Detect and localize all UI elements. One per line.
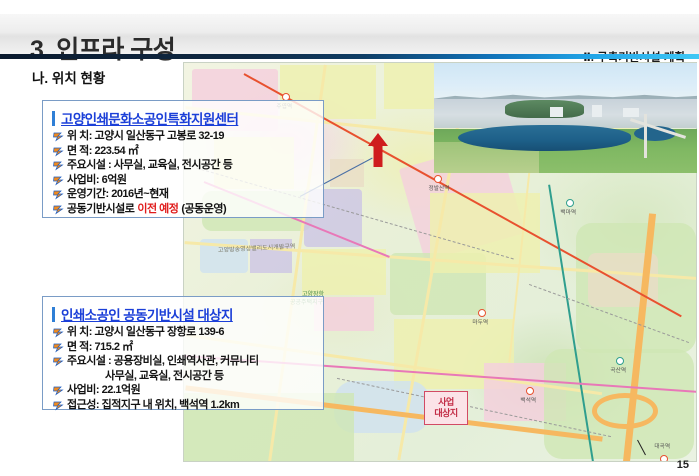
page-number: 15 (677, 459, 689, 471)
arrow-bullet-icon (53, 204, 64, 215)
map-station-label: 곡산역 (610, 365, 626, 374)
list-item: 주요시설 : 공용장비실, 인쇄역사관, 커뮤니티 (53, 355, 317, 369)
info-list: 위 치: 고양시 일산동구 장항로 139-6 면 적: 715.2 ㎡ 주요시… (53, 326, 317, 414)
aerial-building (592, 105, 603, 117)
info-box-target-site: 인쇄소공인 공동기반시설 대상지 위 치: 고양시 일산동구 장항로 139-6… (42, 296, 324, 410)
info-list: 위 치: 고양시 일산동구 고봉로 32-19 면 적: 223.54 ㎡ 주요… (53, 130, 317, 218)
map-station-marker (660, 455, 668, 462)
list-item-prefix: 공동기반시설로 (67, 203, 134, 217)
list-item-text: 위 치: 고양시 일산동구 장항로 139-6 (67, 326, 224, 340)
list-item-text: 사업비: 6억원 (67, 174, 126, 188)
aerial-photo-inset (434, 63, 697, 173)
arrow-bullet-icon (53, 175, 64, 186)
map-station-label: 마두역 (472, 317, 488, 326)
callout-line-2: 대상지 (434, 408, 457, 419)
aerial-building (623, 108, 639, 117)
map-station-label: 대곡역 (654, 441, 670, 450)
info-box-center: 고양인쇄문화소공인특화지원센터 위 치: 고양시 일산동구 고봉로 32-19 … (42, 100, 324, 218)
aerial-sky (434, 63, 697, 100)
arrow-bullet-icon (53, 146, 64, 157)
list-item-text: 면 적: 223.54 ㎡ (67, 145, 138, 159)
map-station-label: 백석역 (520, 395, 536, 404)
map-station-label: 정발산역 (429, 183, 450, 192)
arrow-bullet-icon (53, 342, 64, 353)
subtitle: 나. 위치 현황 (32, 67, 105, 87)
arrow-bullet-icon (53, 160, 64, 171)
arrow-bullet-icon (53, 131, 64, 142)
info-box-heading: 인쇄소공인 공동기반시설 대상지 (52, 304, 233, 324)
aerial-forest-hill (505, 100, 584, 118)
list-item-suffix: (공동운영) (181, 203, 226, 217)
callout-line-1: 사업 (438, 397, 454, 408)
list-item-text: 주요시설 : 공용장비실, 인쇄역사관, 커뮤니티 (67, 355, 259, 369)
location-arrow-icon (368, 133, 388, 167)
arrow-bullet-icon (53, 189, 64, 200)
list-item: 위 치: 고양시 일산동구 장항로 139-6 (53, 326, 317, 340)
aerial-lake (458, 125, 632, 151)
aerial-road (644, 114, 647, 158)
header-divider (0, 54, 699, 59)
list-item: 주요시설 : 사무실, 교육실, 전시공간 등 (53, 159, 317, 173)
arrow-bullet-icon (53, 400, 64, 411)
heading-text: 인쇄소공인 공동기반시설 대상지 (61, 304, 233, 324)
list-item: 사업비: 6억원 (53, 174, 317, 188)
list-item: 운영기간: 2016년~현재 (53, 188, 317, 202)
list-item-text: 주요시설 : 사무실, 교육실, 전시공간 등 (67, 159, 232, 173)
arrow-bullet-icon (53, 356, 64, 367)
list-item: 사업비: 22.1억원 (53, 384, 317, 398)
list-item-text: 사무실, 교육실, 전시공간 등 (105, 370, 224, 384)
map-station-marker (478, 309, 486, 317)
map-highway-ramp (592, 393, 658, 429)
list-item-text: 접근성: 집적지구 내 위치, 백석역 1.2km (67, 399, 239, 413)
project-site-callout[interactable]: 사업 대상지 (424, 391, 468, 425)
list-item: 면 적: 223.54 ㎡ (53, 145, 317, 159)
aerial-building (550, 107, 563, 117)
list-item: 위 치: 고양시 일산동구 고봉로 32-19 (53, 130, 317, 144)
info-box-heading: 고양인쇄문화소공인특화지원센터 (52, 108, 238, 128)
heading-text: 고양인쇄문화소공인특화지원센터 (61, 108, 238, 128)
page-title: 3. 인프라 구성 (30, 30, 175, 66)
map-station-marker (566, 199, 574, 207)
map-station-label: 백마역 (560, 207, 576, 216)
list-item-continuation: 사무실, 교육실, 전시공간 등 (105, 370, 317, 384)
list-item: 접근성: 집적지구 내 위치, 백석역 1.2km (53, 399, 317, 413)
list-item-text: 사업비: 22.1억원 (67, 384, 140, 398)
list-item-text: 운영기간: 2016년~현재 (67, 188, 168, 202)
map-station-marker (616, 357, 624, 365)
heading-accent-bar (52, 111, 55, 126)
slide: 3. 인프라 구성 Ⅱ. 구축기반시설 계획 나. 위치 현황 (0, 0, 699, 476)
map-station-marker (434, 175, 442, 183)
list-item-text: 면 적: 715.2 ㎡ (67, 341, 133, 355)
list-item-highlighted: 공동기반시설로 이전 예정 (공동운영) (53, 203, 317, 217)
arrow-bullet-icon (53, 327, 64, 338)
heading-accent-bar (52, 307, 55, 322)
map-station-marker (526, 387, 534, 395)
arrow-bullet-icon (53, 385, 64, 396)
list-item-text: 위 치: 고양시 일산동구 고봉로 32-19 (67, 130, 224, 144)
slide-header: 3. 인프라 구성 Ⅱ. 구축기반시설 계획 (0, 14, 699, 54)
list-item-highlight: 이전 예정 (137, 203, 178, 217)
list-item: 면 적: 715.2 ㎡ (53, 341, 317, 355)
